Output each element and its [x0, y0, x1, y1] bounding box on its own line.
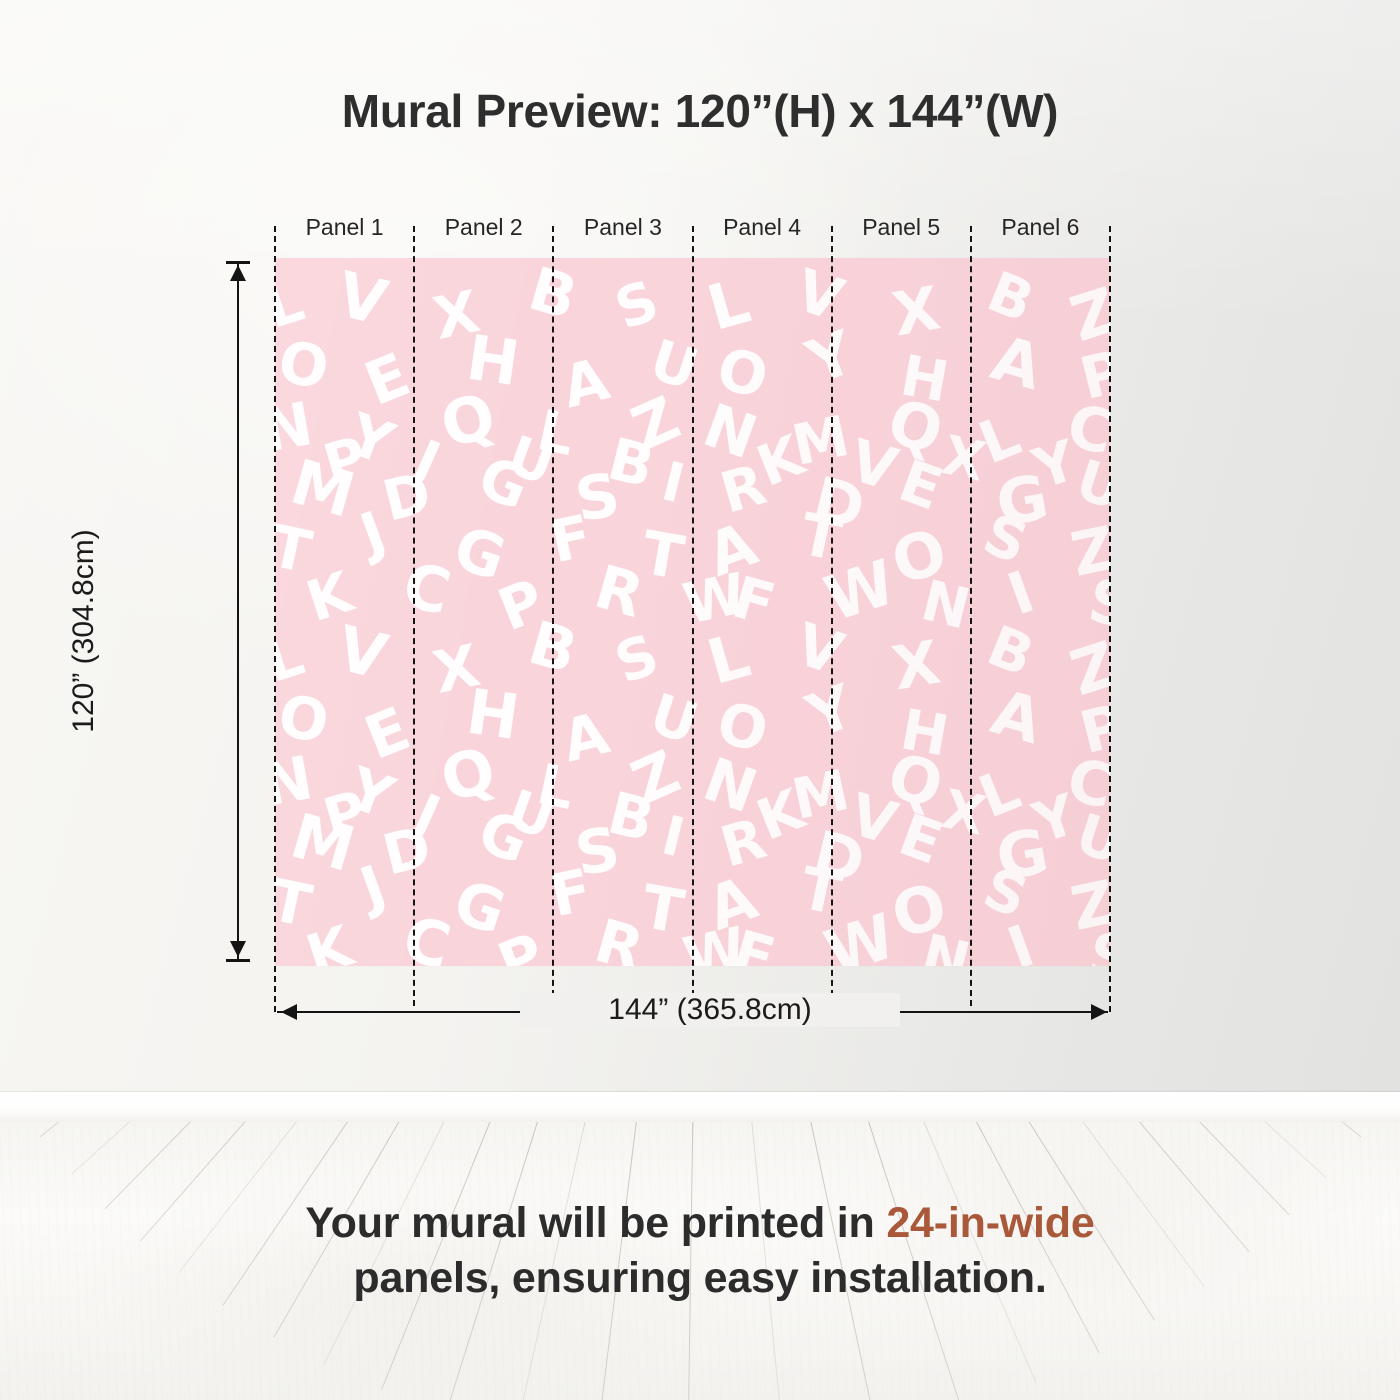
mural-preview-graphic: Mural Preview: 120”(H) x 144”(W) LVXBSOE… — [0, 0, 1400, 1400]
pattern-letter: O — [275, 686, 333, 752]
pattern-letter: C — [398, 907, 457, 966]
panel-label-6: Panel 6 — [971, 214, 1110, 241]
pattern-letter: X — [888, 278, 944, 345]
panel-divider-2 — [552, 226, 554, 1006]
height-arrow-down-icon — [230, 941, 246, 957]
baseboard — [0, 1092, 1400, 1124]
pattern-letter: S — [609, 273, 666, 339]
pattern-letter: L — [701, 270, 756, 340]
panel-divider-5 — [970, 226, 972, 1006]
panel-label-1: Panel 1 — [275, 214, 414, 241]
mural-edge-line — [274, 226, 276, 1012]
pattern-letter: A — [985, 681, 1048, 754]
pattern-letter: R — [589, 911, 650, 966]
pattern-letter: V — [789, 614, 850, 683]
height-dimension-line — [237, 262, 239, 962]
pattern-letter: I — [1001, 916, 1041, 966]
caption: Your mural will be printed in 24-in-wide… — [0, 1196, 1400, 1306]
pattern-letter: O — [275, 332, 333, 398]
pattern-letter: B — [603, 430, 660, 497]
width-dimension-label: 144” (365.8cm) — [520, 993, 900, 1027]
pattern-letter: X — [938, 428, 990, 489]
page-title: Mural Preview: 120”(H) x 144”(W) — [0, 84, 1400, 138]
pattern-letter: V — [789, 260, 850, 329]
panel-label-3: Panel 3 — [553, 214, 692, 241]
pattern-letter: L — [701, 624, 756, 694]
pattern-letter: I — [657, 808, 690, 865]
height-arrow-up-icon — [230, 265, 246, 281]
pattern-letter: B — [603, 784, 660, 851]
mural-edge-line — [1109, 226, 1111, 1012]
pattern-letter: I — [657, 454, 690, 511]
panel-label-5: Panel 5 — [832, 214, 971, 241]
caption-accent: 24-in-wide — [886, 1199, 1094, 1247]
panel-divider-3 — [692, 226, 694, 1006]
pattern-letter: V — [331, 263, 393, 335]
pattern-letter: P — [491, 924, 552, 966]
panel-label-4: Panel 4 — [693, 214, 832, 241]
pattern-letter: S — [609, 627, 666, 693]
pattern-letter: X — [938, 782, 990, 843]
panel-label-2: Panel 2 — [414, 214, 553, 241]
caption-line-1-text: Your mural will be printed in — [305, 1199, 886, 1247]
pattern-letter: V — [844, 431, 903, 499]
panel-divider-1 — [413, 226, 415, 1006]
pattern-letter: V — [331, 617, 393, 689]
height-dimension-cap-top — [226, 261, 250, 264]
pattern-letter: V — [844, 785, 903, 853]
height-dimension-cap-bottom — [226, 959, 250, 962]
pattern-letter: A — [985, 327, 1048, 400]
pattern-letter: X — [888, 632, 944, 699]
caption-line-1: Your mural will be printed in 24-in-wide — [0, 1196, 1400, 1251]
height-dimension-label: 120” (304.8cm) — [67, 461, 101, 801]
panel-divider-4 — [831, 226, 833, 1006]
width-arrow-right-icon — [1091, 1004, 1107, 1020]
pattern-letter: K — [301, 919, 360, 966]
caption-line-2: panels, ensuring easy installation. — [0, 1251, 1400, 1306]
width-arrow-left-icon — [281, 1004, 297, 1020]
